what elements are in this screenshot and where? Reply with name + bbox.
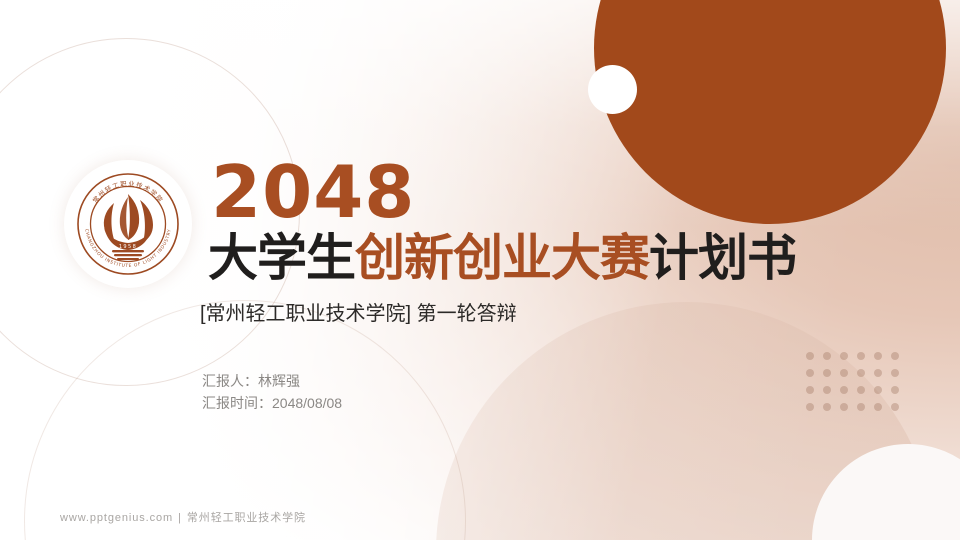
slide-meta: 汇报人：林辉强 汇报时间：2048/08/08 [202, 370, 342, 414]
decorative-dot [806, 403, 814, 411]
decorative-dot [806, 352, 814, 360]
report-date-line: 汇报时间：2048/08/08 [202, 392, 342, 414]
decorative-dot [857, 386, 865, 394]
slide-title-segment-1: 大学生 [208, 229, 355, 287]
slide-title: 大学生创新创业大赛计划书 [208, 229, 796, 287]
slide-footer: www.pptgenius.com|常州轻工职业技术学院 [60, 511, 306, 525]
decorative-dot [806, 369, 814, 377]
slide-subtitle: [常州轻工职业技术学院] 第一轮答辩 [200, 300, 517, 328]
decorative-dot [891, 403, 899, 411]
decorative-dot [823, 386, 831, 394]
svg-text:1958: 1958 [119, 244, 137, 250]
decorative-dot [891, 352, 899, 360]
decorative-dot [823, 352, 831, 360]
decorative-dot [857, 352, 865, 360]
decorative-dot [806, 386, 814, 394]
decorative-dot [874, 386, 882, 394]
slide-year: 2048 [211, 156, 415, 228]
decorative-dot [840, 386, 848, 394]
decorative-white-dot [588, 65, 637, 114]
decorative-dot [823, 369, 831, 377]
slide-title-segment-2: 创新创业大赛 [355, 229, 649, 287]
footer-organization: 常州轻工职业技术学院 [187, 512, 306, 524]
decorative-dot [840, 403, 848, 411]
presentation-slide: 常州轻工职业技术学院 CHANGZHOU INSTITUTE OF LIGHT … [0, 0, 960, 540]
university-logo-icon: 常州轻工职业技术学院 CHANGZHOU INSTITUTE OF LIGHT … [74, 170, 182, 278]
decorative-dot [874, 369, 882, 377]
presenter-line: 汇报人：林辉强 [202, 370, 342, 392]
footer-separator: | [173, 512, 187, 524]
decorative-dot [874, 352, 882, 360]
footer-website[interactable]: www.pptgenius.com [60, 512, 173, 524]
decorative-dot [891, 386, 899, 394]
decorative-dot-grid [806, 352, 908, 420]
decorative-dot [857, 403, 865, 411]
decorative-dot [891, 369, 899, 377]
decorative-dot [857, 369, 865, 377]
slide-title-segment-3: 计划书 [649, 229, 796, 287]
decorative-dot [840, 352, 848, 360]
decorative-dot [823, 403, 831, 411]
decorative-dot [840, 369, 848, 377]
decorative-dot [874, 403, 882, 411]
